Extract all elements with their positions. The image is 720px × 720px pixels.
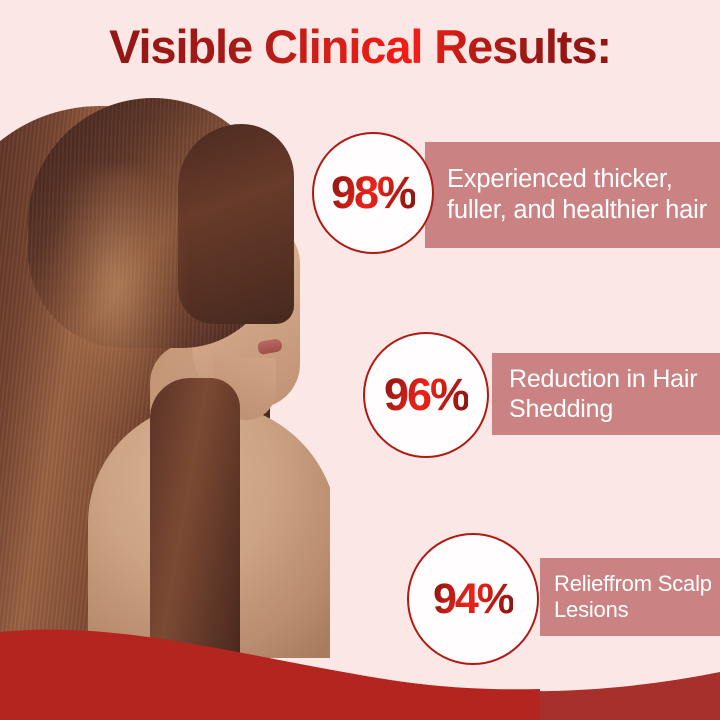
stat-circle: 98% — [312, 132, 434, 254]
stat-description-text: Experienced thicker, fuller, and healthi… — [447, 164, 720, 225]
stat-description-bar: Experienced thicker, fuller, and healthi… — [425, 142, 720, 248]
bottom-wave-decoration — [0, 600, 720, 720]
stat-circle: 96% — [363, 332, 489, 458]
hair-front — [178, 124, 294, 324]
stat-description-text: Reduction in Hair Shedding — [509, 364, 720, 424]
stat-percent-value: 96% — [384, 369, 468, 421]
stat-description-bar: Reduction in Hair Shedding — [492, 353, 720, 435]
model-photo — [0, 78, 330, 658]
wave-shape-bright — [0, 630, 540, 720]
stat-percent-value: 98% — [331, 167, 415, 219]
hair-sheen — [40, 168, 190, 498]
promo-poster: Visible Clinical Results: Experienced th… — [0, 0, 720, 720]
page-title: Visible Clinical Results: — [0, 22, 720, 71]
